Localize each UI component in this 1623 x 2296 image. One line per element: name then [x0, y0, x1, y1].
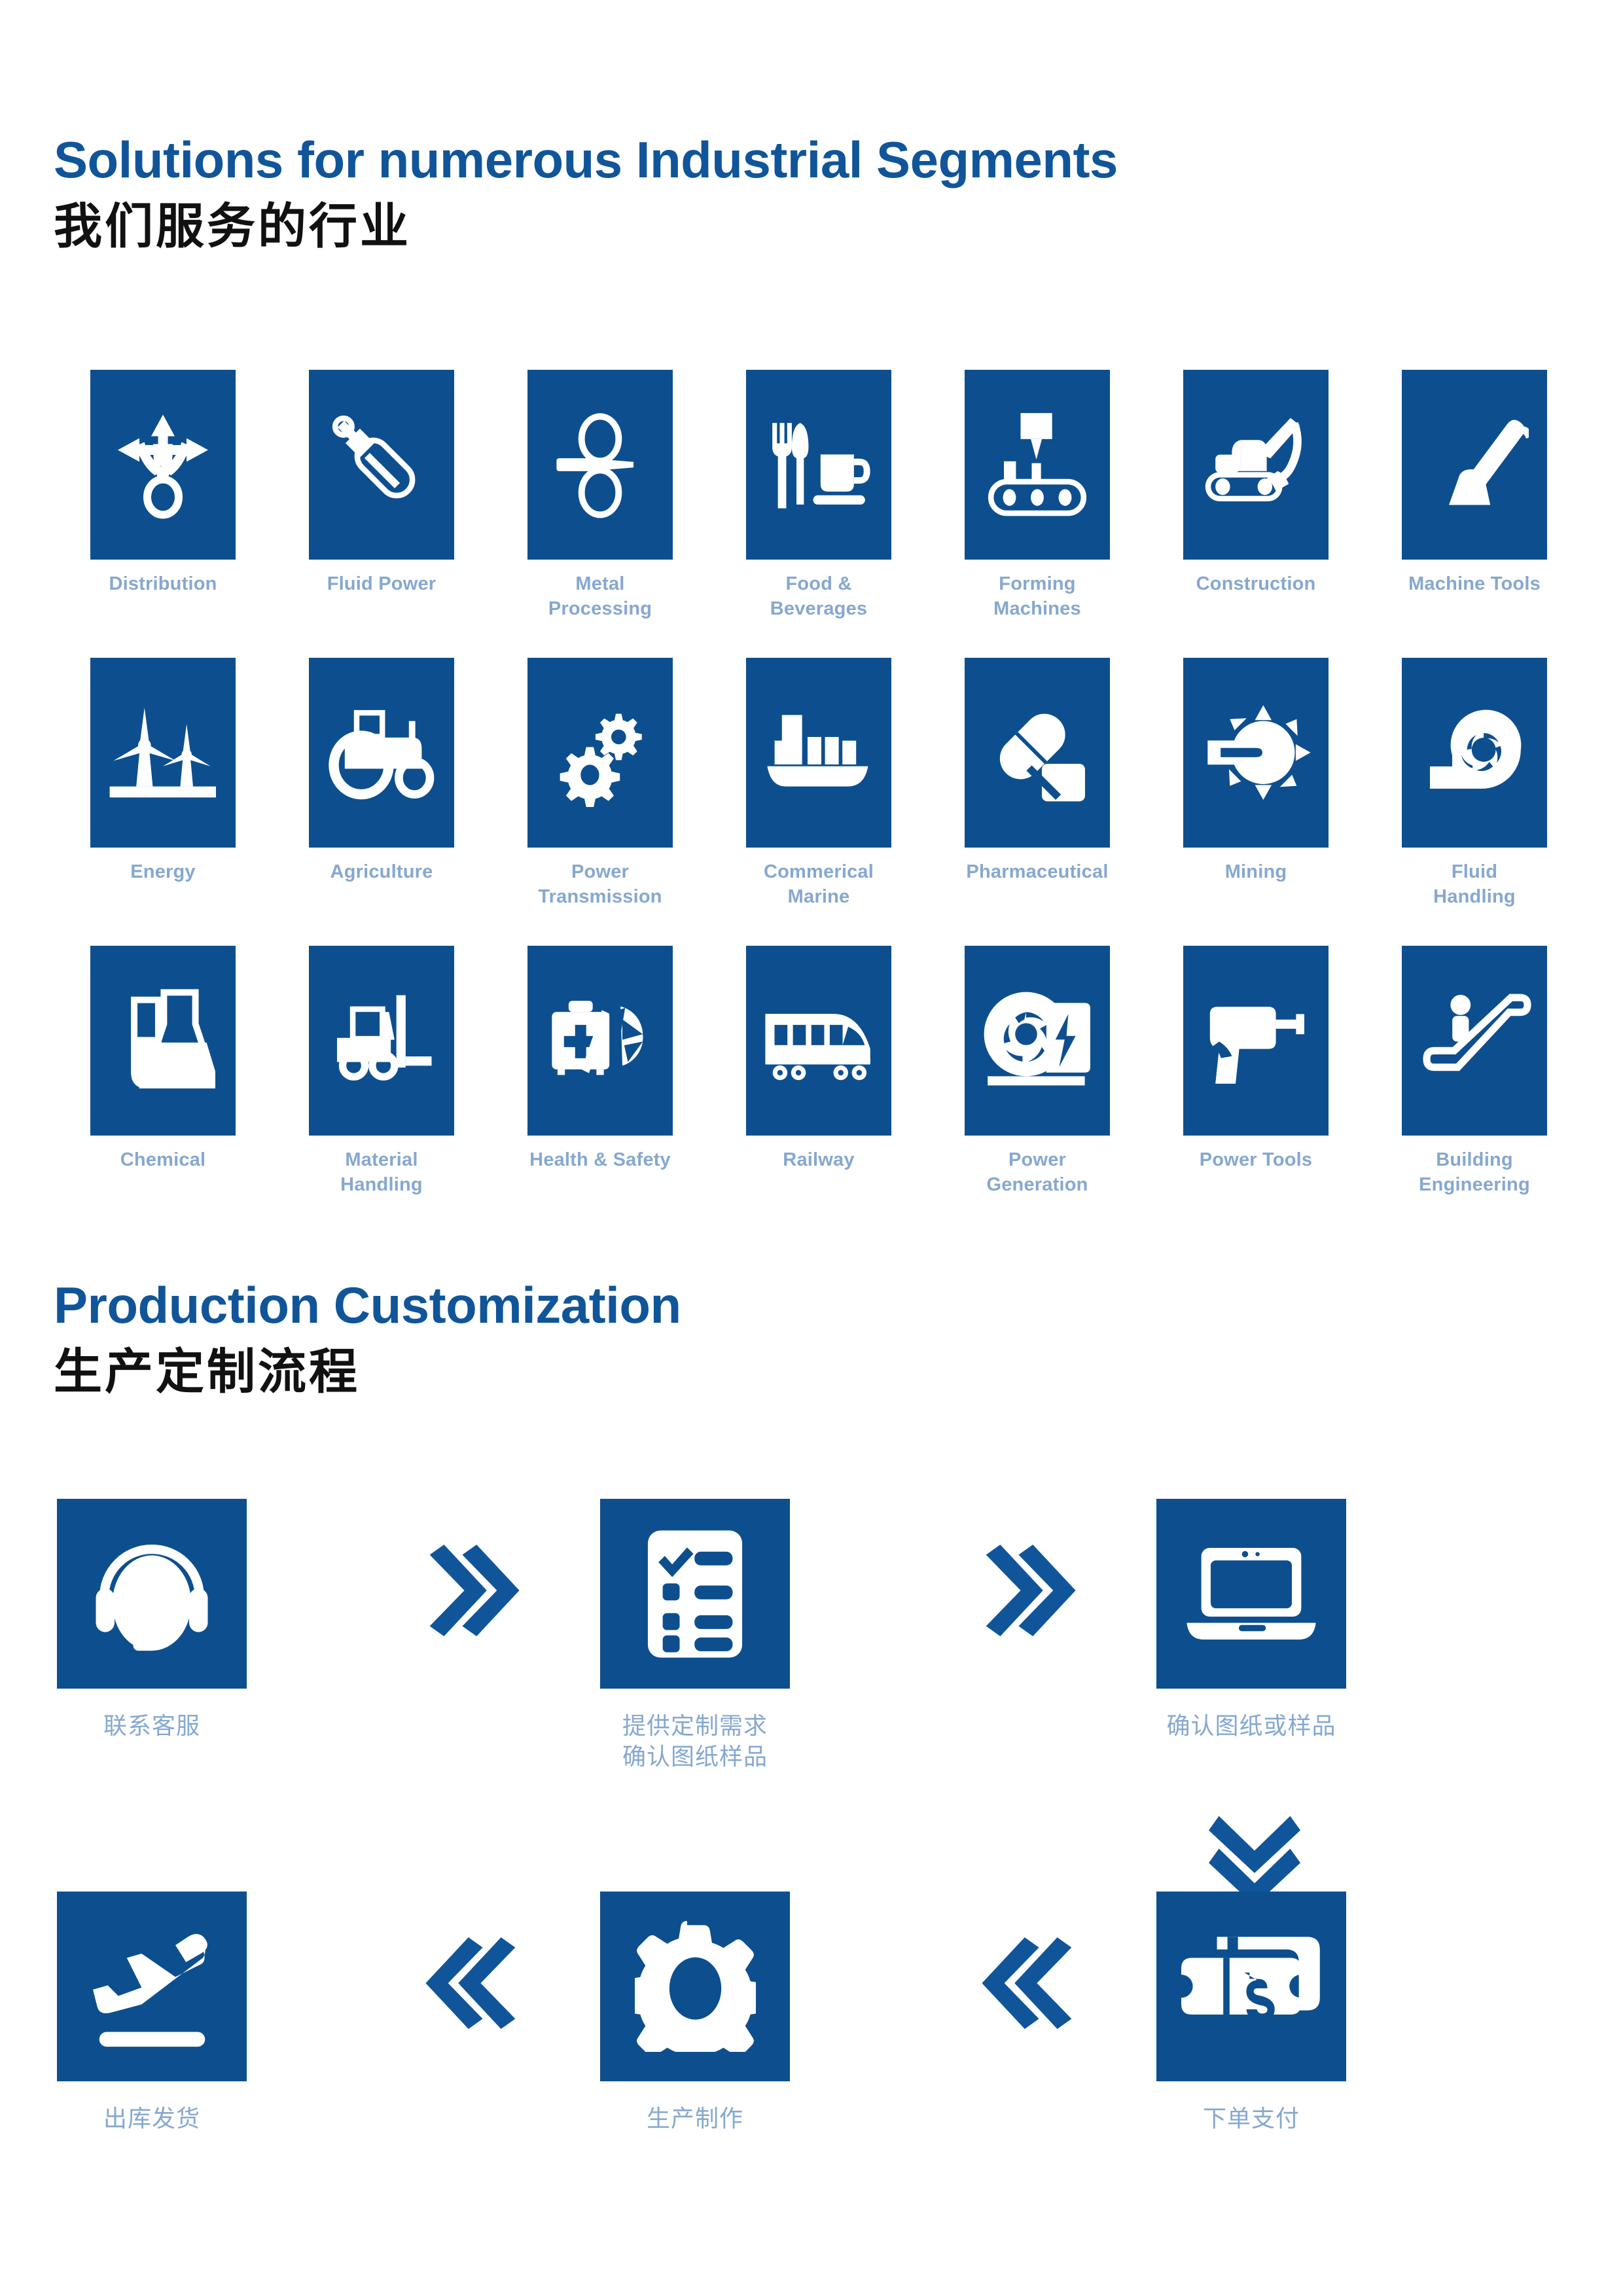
industry-segment-power-generation[interactable]: Power Generation: [928, 946, 1147, 1234]
gears-icon: [527, 658, 673, 848]
industry-segment-label: Forming Machines: [928, 571, 1147, 622]
industry-segment-commerical-marine[interactable]: Commerical Marine: [709, 658, 928, 946]
production-heading-en: Production Customization: [54, 1280, 681, 1331]
industry-segment-label: Food & Beverages: [709, 571, 928, 622]
distribution-arrows-icon: [90, 370, 236, 560]
flow-row-bottom: 出库发货 生产制作 下单支付: [54, 1892, 1572, 2284]
industry-segment-label: Metal Processing: [491, 571, 709, 622]
hydraulic-cylinder-icon: [309, 370, 454, 560]
capsule-pills-icon: [965, 658, 1110, 848]
industry-segment-fluid-power[interactable]: Fluid Power: [272, 370, 491, 658]
industry-segment-health-&-safety[interactable]: Health & Safety: [491, 946, 709, 1234]
cutlery-cup-icon: [746, 370, 891, 560]
flow-step-label: 联系客服: [54, 1711, 250, 1742]
industry-segment-pharmaceutical[interactable]: Pharmaceutical: [928, 658, 1147, 946]
industry-segment-label: Construction: [1147, 571, 1365, 596]
power-drill-icon: [1183, 946, 1329, 1136]
production-section-heading: Production Customization 生产定制流程: [54, 1280, 681, 1399]
flow-step-label: 下单支付: [1153, 2104, 1349, 2134]
poster-page: Solutions for numerous Industrial Segmen…: [0, 0, 1623, 2296]
rolling-mill-icon: [527, 370, 673, 560]
pump-impeller-icon: [1402, 658, 1547, 848]
industry-segment-label: Fluid Power: [272, 571, 491, 596]
industry-segment-label: Power Transmission: [491, 859, 709, 910]
robot-arm-icon: [1402, 370, 1547, 560]
industry-segment-material-handling[interactable]: Material Handling: [272, 946, 491, 1234]
excavator-icon: [1183, 370, 1329, 560]
first-aid-kit-icon: [527, 946, 673, 1136]
industry-heading-cn: 我们服务的行业: [54, 198, 1118, 254]
flow-step-row1-2[interactable]: 提供定制需求 确认图纸样品: [597, 1499, 793, 1772]
production-flow: 联系客服 提供定制需求 确认图纸样品 确认图纸或样品 出库发货: [54, 1499, 1572, 2284]
chevron-right-double-icon: [407, 1548, 538, 1633]
flow-step-label: 出库发货: [54, 2104, 250, 2134]
industry-segment-label: Health & Safety: [491, 1147, 709, 1172]
industry-segment-label: Railway: [709, 1147, 928, 1172]
industry-segment-label: Building Engineering: [1365, 1147, 1584, 1198]
flow-step-row2-1[interactable]: 出库发货: [54, 1892, 250, 2134]
flow-step-label: 确认图纸或样品: [1153, 1711, 1349, 1742]
forklift-icon: [309, 946, 454, 1136]
industry-segment-label: Distribution: [54, 571, 272, 596]
industry-segment-railway[interactable]: Railway: [709, 946, 928, 1234]
industry-segment-label: Agriculture: [272, 859, 491, 884]
flow-step-row1-1[interactable]: 联系客服: [54, 1499, 250, 1742]
industry-segment-energy[interactable]: Energy: [54, 658, 272, 946]
train-icon: [746, 946, 891, 1136]
industry-segment-label: Mining: [1147, 859, 1365, 884]
laptop-icon: [1156, 1499, 1346, 1689]
turbine-generator-icon: [965, 946, 1110, 1136]
industry-segment-building-engineering[interactable]: Building Engineering: [1365, 946, 1584, 1234]
tractor-icon: [309, 658, 454, 848]
industry-segment-label: Pharmaceutical: [928, 859, 1147, 884]
gear-cog-icon: [600, 1892, 790, 2081]
flow-step-row1-3[interactable]: 确认图纸或样品: [1153, 1499, 1349, 1742]
industry-segment-label: Fluid Handling: [1365, 859, 1584, 910]
chevron-left-double-icon: [407, 1941, 538, 2026]
industry-segment-fluid-handling[interactable]: Fluid Handling: [1365, 658, 1584, 946]
industry-segment-metal-processing[interactable]: Metal Processing: [491, 370, 709, 658]
flow-step-label: 生产制作: [597, 2104, 793, 2134]
industry-segment-food-&-beverages[interactable]: Food & Beverages: [709, 370, 928, 658]
industry-segment-label: Chemical: [54, 1147, 272, 1172]
flow-row-top: 联系客服 提供定制需求 确认图纸样品 确认图纸或样品: [54, 1499, 1572, 1892]
industry-segment-power-transmission[interactable]: Power Transmission: [491, 658, 709, 946]
industry-segment-label: Energy: [54, 859, 272, 884]
industry-segment-label: Power Tools: [1147, 1147, 1365, 1172]
cargo-ship-icon: [746, 658, 891, 848]
production-heading-cn: 生产定制流程: [54, 1344, 681, 1399]
industry-segment-power-tools[interactable]: Power Tools: [1147, 946, 1365, 1234]
industry-segment-machine-tools[interactable]: Machine Tools: [1365, 370, 1584, 658]
industry-section-heading: Solutions for numerous Industrial Segmen…: [54, 134, 1118, 254]
industry-segment-distribution[interactable]: Distribution: [54, 370, 272, 658]
chevron-left-double-icon: [963, 1941, 1094, 2026]
industry-segment-label: Machine Tools: [1365, 571, 1584, 596]
industry-segment-label: Material Handling: [272, 1147, 491, 1198]
industry-segment-construction[interactable]: Construction: [1147, 370, 1365, 658]
flow-step-label: 提供定制需求 确认图纸样品: [597, 1711, 793, 1772]
chevron-right-double-icon: [963, 1548, 1094, 1633]
industry-segments-grid: Distribution Fluid Power Metal Processin…: [54, 370, 1572, 1234]
industry-segment-label: Commerical Marine: [709, 859, 928, 910]
press-conveyor-icon: [965, 370, 1110, 560]
airplane-departure-icon: [57, 1892, 247, 2081]
wind-turbine-icon: [90, 658, 236, 848]
drill-bit-icon: [1183, 658, 1329, 848]
headset-support-icon: [57, 1499, 247, 1689]
escalator-icon: [1402, 946, 1547, 1136]
industry-segment-agriculture[interactable]: Agriculture: [272, 658, 491, 946]
industry-heading-en: Solutions for numerous Industrial Segmen…: [54, 134, 1118, 185]
industry-segment-mining[interactable]: Mining: [1147, 658, 1365, 946]
industry-segment-chemical[interactable]: Chemical: [54, 946, 272, 1234]
flow-step-row2-2[interactable]: 生产制作: [597, 1892, 793, 2134]
flow-step-row2-3[interactable]: 下单支付: [1153, 1892, 1349, 2134]
flask-test-tube-icon: [90, 946, 236, 1136]
banknote-dollar-icon: [1156, 1892, 1346, 2081]
industry-segment-forming-machines[interactable]: Forming Machines: [928, 370, 1147, 658]
checklist-clipboard-icon: [600, 1499, 790, 1689]
industry-segment-label: Power Generation: [928, 1147, 1147, 1198]
